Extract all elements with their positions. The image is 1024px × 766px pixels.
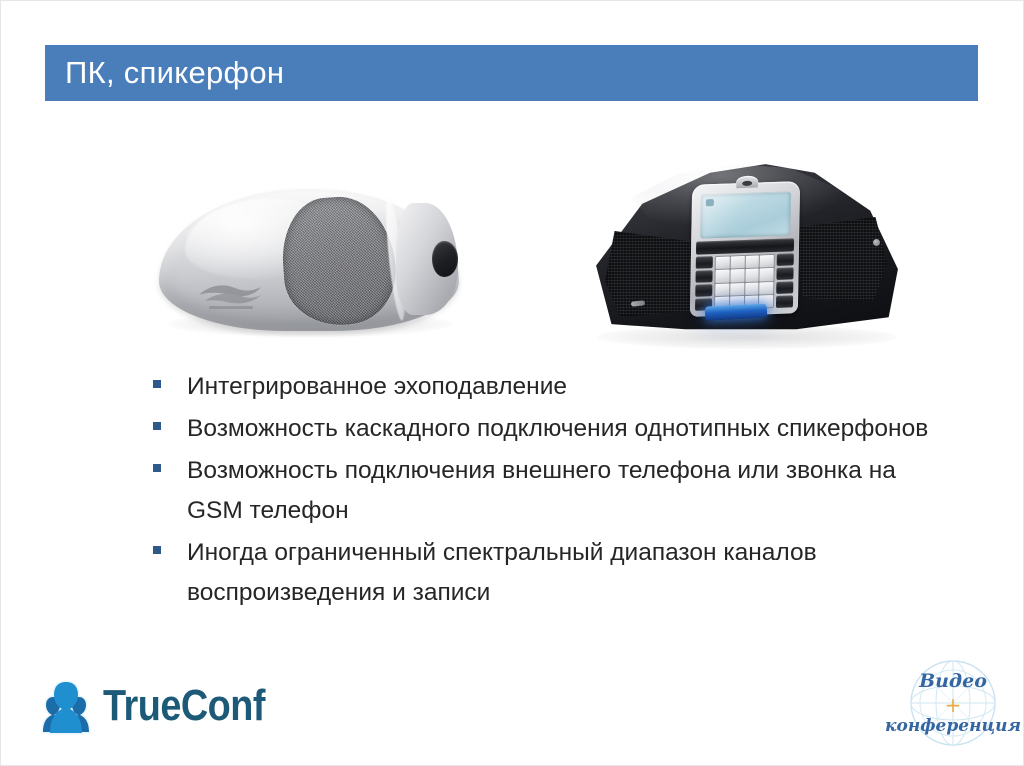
number-key [715, 283, 729, 296]
keypad-number-grid [714, 254, 775, 310]
watermark-line-2: конференция [885, 718, 1021, 735]
bullet-square-icon [153, 422, 161, 430]
trueconf-wordmark: TrueConf [103, 681, 265, 731]
list-item-label: Возможность каскадного подключения однот… [187, 409, 928, 449]
list-item: Возможность подключения внешнего телефон… [153, 451, 943, 531]
three-people-icon [33, 677, 99, 735]
function-key [776, 281, 793, 294]
number-key [730, 283, 744, 296]
list-item: Интегрированное эхоподавление [153, 367, 943, 407]
conference-phone-speaker-right [791, 217, 887, 305]
number-key [715, 270, 729, 283]
watermark-text: Видео + конференция [889, 645, 1017, 761]
function-key [695, 270, 712, 283]
trueconf-logo: TrueConf [33, 673, 283, 739]
bullet-square-icon [153, 464, 161, 472]
number-key [745, 282, 759, 295]
bullet-list: Интегрированное эхоподавление Возможност… [153, 367, 943, 615]
device-images [1, 141, 1024, 361]
watermark-plus-icon: + [945, 695, 962, 715]
usb-dome-speakerphone-image [151, 183, 471, 353]
number-key [730, 269, 744, 282]
number-key [759, 282, 773, 295]
dome-brand-logo-icon [195, 279, 269, 311]
number-key [745, 269, 759, 282]
conference-phone-softkey-bar [696, 238, 794, 254]
dome-audio-port [432, 241, 458, 277]
number-key [760, 255, 774, 268]
slide-title-bar: ПК, спикерфон [45, 45, 978, 101]
slide: ПК, спикерфон [0, 0, 1024, 766]
function-key [695, 284, 712, 297]
lcd-indicator [706, 199, 714, 206]
list-item: Возможность каскадного подключения однот… [153, 409, 943, 449]
number-key [716, 257, 730, 270]
list-item-label: Иногда ограниченный спектральный диапазо… [187, 533, 943, 613]
conference-phone-side-indicator [873, 239, 880, 246]
page-title: ПК, спикерфон [65, 55, 284, 91]
function-key [696, 256, 713, 269]
bullet-square-icon [153, 380, 161, 388]
bullet-square-icon [153, 546, 161, 554]
conference-phone-earpiece [736, 175, 758, 188]
number-key [730, 256, 744, 269]
watermark-line-1: Видео [919, 672, 987, 691]
list-item-label: Интегрированное эхоподавление [187, 367, 567, 407]
conference-phone-keypad [695, 253, 794, 310]
videoconference-watermark: Видео + конференция [889, 645, 1017, 761]
function-key [776, 267, 793, 280]
conference-phone-speaker-left [605, 231, 701, 317]
conference-phone-console [690, 181, 800, 317]
conference-phone-lcd-display [700, 191, 791, 238]
keypad-function-column-right [776, 253, 794, 308]
list-item-label: Возможность подключения внешнего телефон… [187, 451, 943, 531]
list-item: Иногда ограниченный спектральный диапазо… [153, 533, 943, 613]
number-key [745, 256, 759, 269]
conference-phone-image [587, 155, 907, 361]
number-key [760, 268, 774, 281]
function-key [776, 295, 793, 308]
function-key [777, 253, 794, 266]
keypad-function-column-left [695, 256, 713, 311]
